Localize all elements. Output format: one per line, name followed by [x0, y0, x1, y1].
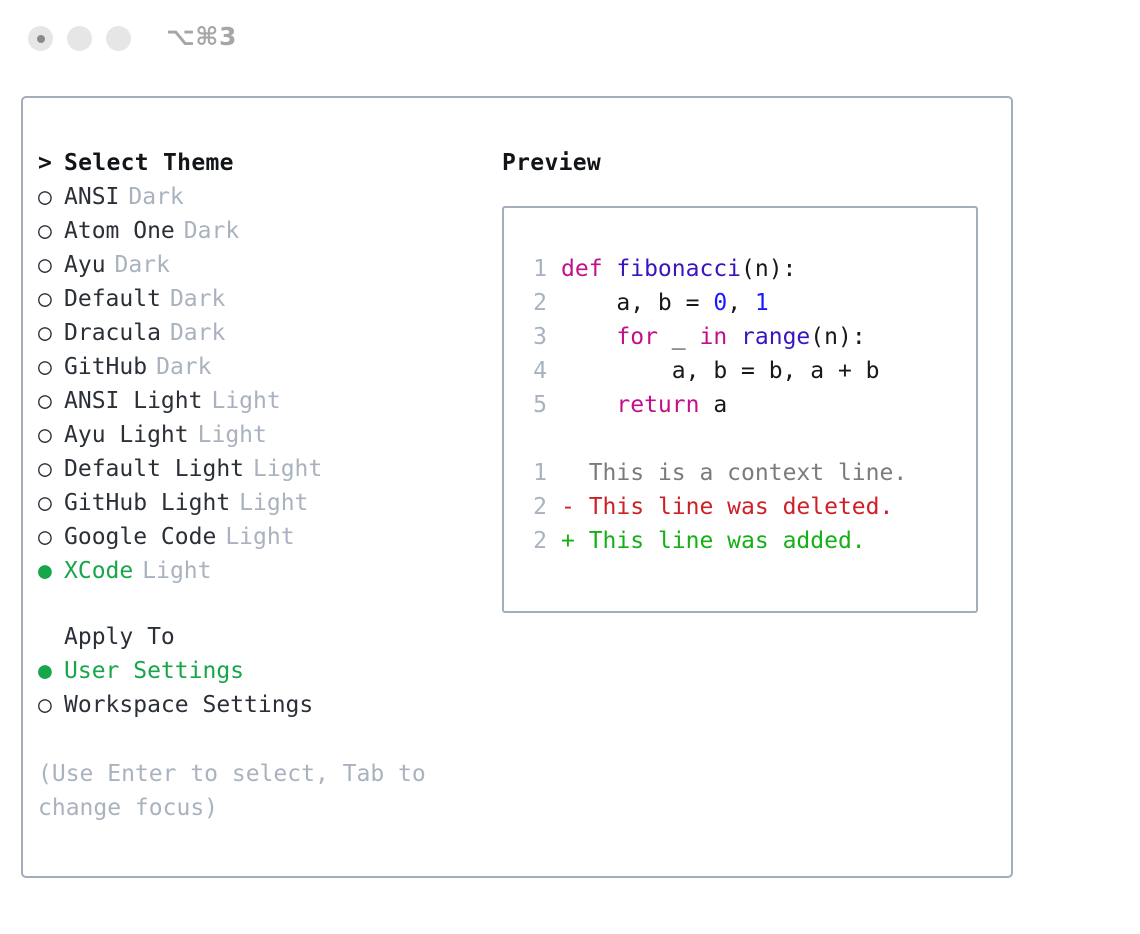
theme-option-variant: Light — [198, 418, 267, 452]
radio-unselected-icon: ○ — [38, 520, 64, 554]
apply-to-option[interactable]: ○Workspace Settings — [38, 688, 488, 722]
theme-option-name: Ayu — [64, 248, 106, 282]
apply-to-label: Apply To — [64, 620, 175, 654]
theme-option-variant: Dark — [184, 214, 239, 248]
radio-unselected-icon: ○ — [38, 350, 64, 384]
code-token-pl: a, b = — [561, 290, 713, 316]
code-token-pl — [561, 392, 616, 418]
theme-option-name: Default Light — [64, 452, 244, 486]
theme-option-name: Ayu Light — [64, 418, 189, 452]
theme-option[interactable]: ○ANSIDark — [38, 180, 488, 214]
theme-option[interactable]: ○AyuDark — [38, 248, 488, 282]
keyboard-shortcut-label: ⌥⌘3 — [166, 22, 237, 51]
theme-option-variant: Dark — [115, 248, 170, 282]
radio-unselected-icon: ○ — [38, 384, 64, 418]
theme-option-name: Dracula — [64, 316, 161, 350]
panel-columns: > Select Theme ○ANSIDark○Atom OneDark○Ay… — [23, 98, 1011, 876]
radio-selected-icon: ● — [38, 554, 64, 588]
theme-picker-column: > Select Theme ○ANSIDark○Atom OneDark○Ay… — [38, 146, 488, 825]
code-token-fn: range — [741, 324, 810, 350]
apply-to-option-label: User Settings — [64, 654, 244, 688]
code-token-kw: return — [616, 392, 699, 418]
code-token-fn: fibonacci — [616, 256, 741, 282]
apply-to-option-label: Workspace Settings — [64, 688, 313, 722]
theme-option-variant: Dark — [128, 180, 183, 214]
keyboard-hint: (Use Enter to select, Tab to change focu… — [38, 757, 438, 825]
theme-option-name: Default — [64, 282, 161, 316]
diff-line: 2+ This line was added. — [521, 524, 970, 558]
theme-option-variant: Dark — [170, 316, 225, 350]
code-line: 1def fibonacci(n): — [521, 252, 970, 286]
preview-column: Preview 1def fibonacci(n):2 a, b = 0, 13… — [502, 146, 992, 613]
theme-option-variant: Light — [142, 554, 211, 588]
diff-marker: - — [561, 494, 575, 520]
diff-marker: + — [561, 528, 575, 554]
caret-icon: > — [38, 146, 64, 180]
diff-line-content: This is a context line. — [575, 460, 907, 486]
theme-option-name: Google Code — [64, 520, 216, 554]
theme-option-variant: Light — [225, 520, 294, 554]
radio-unselected-icon: ○ — [38, 486, 64, 520]
theme-option-name: Atom One — [64, 214, 175, 248]
radio-unselected-icon: ○ — [38, 688, 64, 722]
code-token-pl: (n): — [741, 256, 796, 282]
diff-line-number: 2 — [521, 490, 547, 524]
diff-line: 1 This is a context line. — [521, 456, 970, 490]
code-token-pl — [727, 324, 741, 350]
radio-unselected-icon: ○ — [38, 282, 64, 316]
main-panel: > Select Theme ○ANSIDark○Atom OneDark○Ay… — [21, 96, 1013, 878]
code-token-pl: a — [699, 392, 727, 418]
apply-to-heading: Apply To — [38, 620, 488, 654]
preview-box: 1def fibonacci(n):2 a, b = 0, 13 for _ i… — [502, 206, 978, 613]
theme-option-name: XCode — [64, 554, 133, 588]
code-line: 5 return a — [521, 388, 970, 422]
apply-to-option[interactable]: ●User Settings — [38, 654, 488, 688]
theme-option[interactable]: ○DefaultDark — [38, 282, 488, 316]
code-line-number: 2 — [521, 286, 547, 320]
diff-line-text: + This line was added. — [561, 524, 866, 558]
code-line: 2 a, b = 0, 1 — [521, 286, 970, 320]
code-token-pl: a, b = b, a + b — [561, 358, 880, 384]
close-button[interactable] — [28, 26, 53, 51]
theme-list: ○ANSIDark○Atom OneDark○AyuDark○DefaultDa… — [38, 180, 488, 588]
maximize-button[interactable] — [106, 26, 131, 51]
theme-option-name: ANSI Light — [64, 384, 202, 418]
minimize-button[interactable] — [67, 26, 92, 51]
code-line: 4 a, b = b, a + b — [521, 354, 970, 388]
code-line-number: 3 — [521, 320, 547, 354]
code-line-number: 5 — [521, 388, 547, 422]
theme-option[interactable]: ●XCodeLight — [38, 554, 488, 588]
code-line: 3 for _ in range(n): — [521, 320, 970, 354]
theme-option[interactable]: ○DraculaDark — [38, 316, 488, 350]
theme-option-variant: Light — [253, 452, 322, 486]
select-theme-heading: > Select Theme — [38, 146, 488, 180]
apply-to-options: ●User Settings○Workspace Settings — [38, 654, 488, 722]
theme-option-variant: Dark — [170, 282, 225, 316]
title-bar: ⌥⌘3 — [0, 0, 1140, 78]
code-token-kw: for — [616, 324, 658, 350]
preview-divider — [521, 422, 970, 456]
radio-unselected-icon: ○ — [38, 316, 64, 350]
theme-option-variant: Light — [239, 486, 308, 520]
theme-option[interactable]: ○Default LightLight — [38, 452, 488, 486]
radio-unselected-icon: ○ — [38, 418, 64, 452]
code-preview: 1def fibonacci(n):2 a, b = 0, 13 for _ i… — [521, 252, 970, 558]
app-window: ⌥⌘3 > Select Theme ○ANSIDark○Atom OneDar… — [0, 0, 1140, 934]
diff-line-content: This line was deleted. — [575, 494, 894, 520]
radio-unselected-icon: ○ — [38, 214, 64, 248]
radio-unselected-icon: ○ — [38, 248, 64, 282]
theme-option-variant: Dark — [156, 350, 211, 384]
diff-line-content: This line was added. — [575, 528, 866, 554]
code-line-text: return a — [561, 388, 727, 422]
theme-option[interactable]: ○Atom OneDark — [38, 214, 488, 248]
diff-line: 2- This line was deleted. — [521, 490, 970, 524]
radio-unselected-icon: ○ — [38, 452, 64, 486]
code-line-number: 4 — [521, 354, 547, 388]
radio-unselected-icon: ○ — [38, 180, 64, 214]
code-token-pl — [561, 324, 616, 350]
theme-option-name: GitHub — [64, 350, 147, 384]
theme-option-variant: Light — [211, 384, 280, 418]
radio-selected-icon: ● — [38, 654, 64, 688]
theme-option[interactable]: ○Google CodeLight — [38, 520, 488, 554]
theme-option[interactable]: ○Ayu LightLight — [38, 418, 488, 452]
theme-option[interactable]: ○GitHub LightLight — [38, 486, 488, 520]
diff-line-text: This is a context line. — [561, 456, 907, 490]
code-line-text: a, b = b, a + b — [561, 354, 880, 388]
code-line-text: for _ in range(n): — [561, 320, 866, 354]
diff-line-text: - This line was deleted. — [561, 490, 893, 524]
theme-option[interactable]: ○GitHubDark — [38, 350, 488, 384]
code-token-num: 1 — [755, 290, 769, 316]
code-token-num: 0 — [713, 290, 727, 316]
hint-line-1: (Use Enter to select, Tab to — [38, 757, 438, 791]
hint-line-2: change focus) — [38, 791, 438, 825]
code-token-kw: in — [699, 324, 727, 350]
code-line-text: a, b = 0, 1 — [561, 286, 769, 320]
theme-option[interactable]: ○ANSI LightLight — [38, 384, 488, 418]
code-line-number: 1 — [521, 252, 547, 286]
theme-option-name: GitHub Light — [64, 486, 230, 520]
code-line-text: def fibonacci(n): — [561, 252, 796, 286]
diff-line-number: 2 — [521, 524, 547, 558]
code-token-kw: def — [561, 256, 616, 282]
traffic-light-group — [28, 26, 131, 51]
theme-option-name: ANSI — [64, 180, 119, 214]
code-token-pl: _ — [658, 324, 700, 350]
code-token-pl: (n): — [810, 324, 865, 350]
diff-marker — [561, 460, 575, 486]
preview-heading: Preview — [502, 146, 992, 180]
code-token-pl: , — [727, 290, 755, 316]
select-theme-label: Select Theme — [64, 146, 234, 180]
diff-line-number: 1 — [521, 456, 547, 490]
